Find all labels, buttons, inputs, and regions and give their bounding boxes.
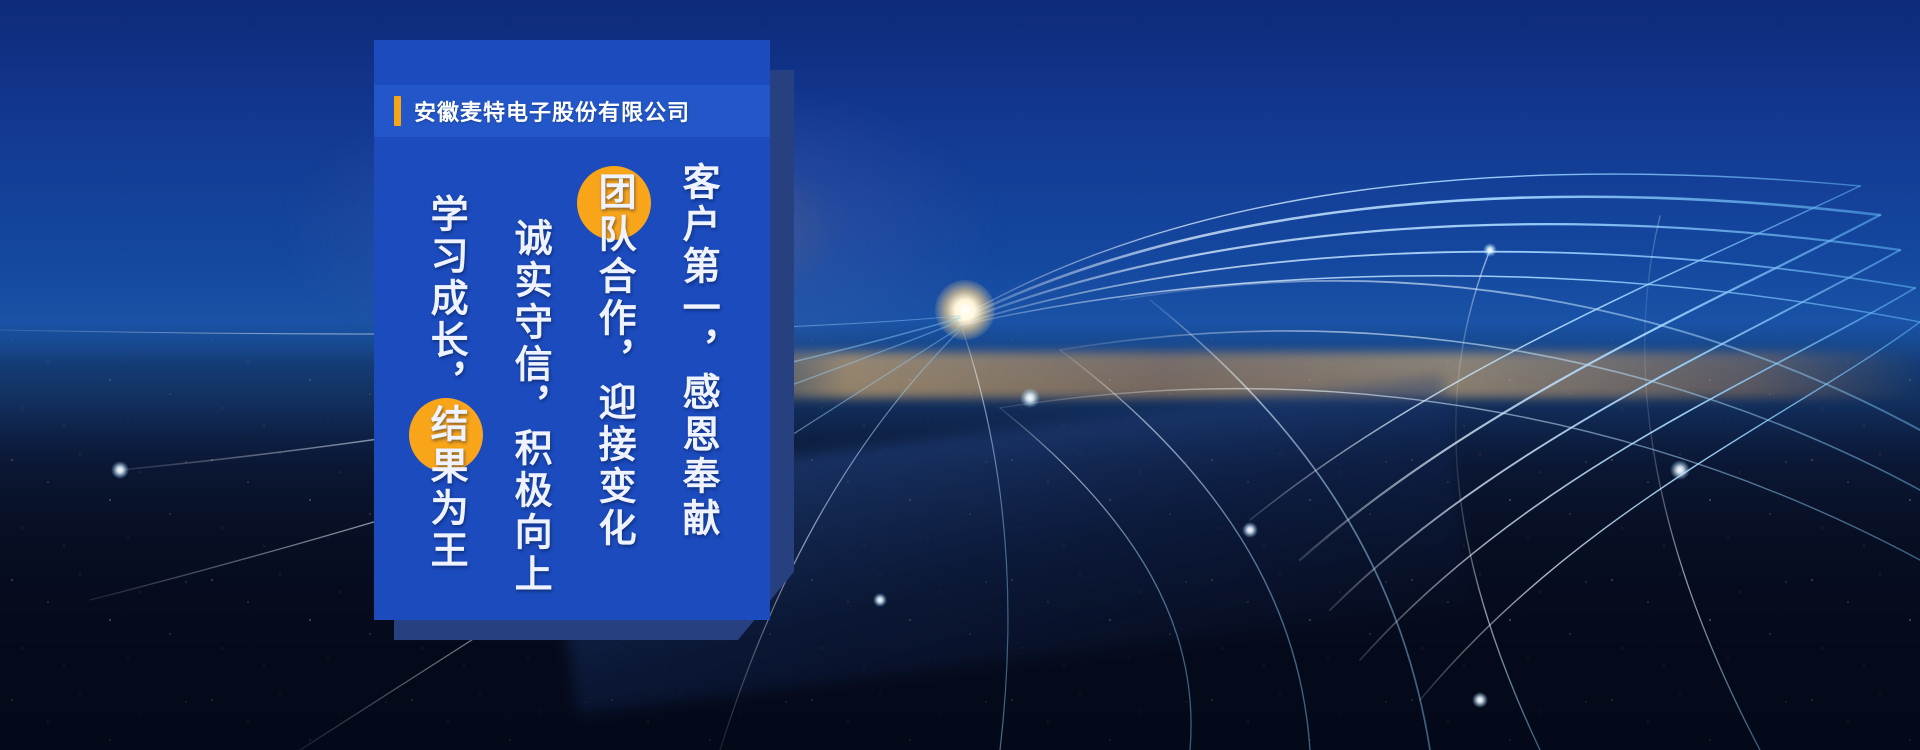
value-column-text: 团队合作，迎接变化: [594, 172, 634, 550]
light-burst-core: [935, 280, 995, 340]
title-accent-bar: [394, 96, 401, 126]
value-column-growth: 学习成长，结果为王: [404, 148, 488, 596]
panel-surface: 安徽麦特电子股份有限公司 客户第一，感恩奉献 团队合作，迎接变化 诚实守信，积极…: [374, 40, 770, 620]
value-column-text: 学习成长，结果为王: [426, 194, 466, 572]
company-culture-banner: 安徽麦特电子股份有限公司 客户第一，感恩奉献 团队合作，迎接变化 诚实守信，积极…: [0, 0, 1920, 750]
culture-panel: 安徽麦特电子股份有限公司 客户第一，感恩奉献 团队合作，迎接变化 诚实守信，积极…: [374, 40, 804, 640]
shoreline-light-belt: [700, 352, 1920, 398]
company-name: 安徽麦特电子股份有限公司: [414, 95, 690, 127]
value-column-team: 团队合作，迎接变化: [572, 148, 656, 596]
value-column-text: 诚实守信，积极向上: [510, 218, 550, 596]
value-column-text: 客户第一，感恩奉献: [678, 162, 718, 540]
value-column-customer: 客户第一，感恩奉献: [656, 148, 740, 596]
value-columns: 客户第一，感恩奉献 团队合作，迎接变化 诚实守信，积极向上 学习成长，结果为王: [374, 148, 770, 596]
panel-title-row: 安徽麦特电子股份有限公司: [374, 85, 802, 137]
value-column-integrity: 诚实守信，积极向上: [488, 148, 572, 596]
